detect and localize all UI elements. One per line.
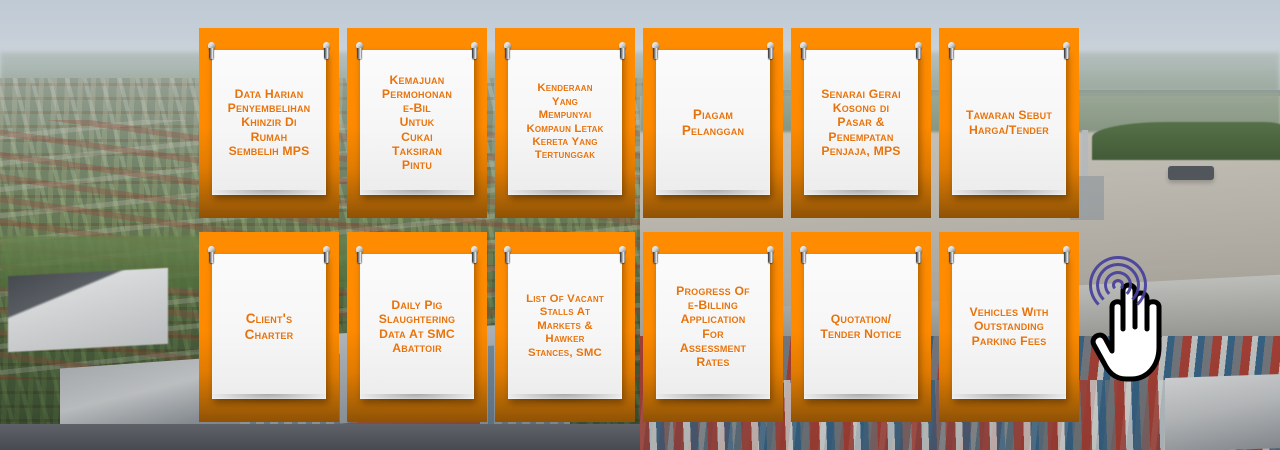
tile-label: Daily Pig Slaughtering Data At SMC Abatt… — [379, 298, 456, 355]
tile-kenderaan-kompaun-letak-kereta[interactable]: Kenderaan Yang Mempunyai Kompaun Letak K… — [495, 28, 635, 218]
tile-progress-of-e-billing-application[interactable]: Progress Of e-Billing Application For As… — [643, 232, 783, 422]
tile-label: Tawaran Sebut Harga/Tender — [966, 108, 1052, 136]
pin-icon-left — [356, 42, 363, 59]
tile-card[interactable]: Kenderaan Yang Mempunyai Kompaun Letak K… — [508, 50, 622, 195]
pin-icon-right — [323, 246, 330, 263]
tile-card[interactable]: Piagam Pelanggan — [656, 50, 770, 195]
pin-icon-left — [800, 246, 807, 263]
tile-label: Client's Charter — [245, 311, 294, 342]
tile-label: Kemajuan Permohonan e-Bil Untuk Cukai Ta… — [382, 73, 452, 172]
pin-icon-right — [1063, 42, 1070, 59]
tile-label: Kenderaan Yang Mempunyai Kompaun Letak K… — [526, 82, 603, 162]
pin-icon-right — [471, 246, 478, 263]
tile-tawaran-sebut-harga-tender[interactable]: Tawaran Sebut Harga/Tender — [939, 28, 1079, 218]
tile-label: Senarai Gerai Kosong di Pasar & Penempat… — [821, 87, 901, 158]
service-tile-board: Data Harian Penyembelihan Khinzir Di Rum… — [199, 28, 1081, 422]
pin-icon-left — [948, 246, 955, 263]
tile-data-harian-penyembelihan[interactable]: Data Harian Penyembelihan Khinzir Di Rum… — [199, 28, 339, 218]
pin-icon-left — [652, 42, 659, 59]
tile-card[interactable]: Kemajuan Permohonan e-Bil Untuk Cukai Ta… — [360, 50, 474, 195]
tile-label: Progress Of e-Billing Application For As… — [676, 284, 750, 369]
tile-quotation-tender-notice[interactable]: Quotation/ Tender Notice — [791, 232, 931, 422]
pin-icon-right — [767, 42, 774, 59]
pin-icon-right — [915, 42, 922, 59]
tile-card[interactable]: Data Harian Penyembelihan Khinzir Di Rum… — [212, 50, 326, 195]
tile-card[interactable]: Daily Pig Slaughtering Data At SMC Abatt… — [360, 254, 474, 399]
tile-piagam-pelanggan[interactable]: Piagam Pelanggan — [643, 28, 783, 218]
tile-card[interactable]: Vehicles With Outstanding Parking Fees — [952, 254, 1066, 399]
tile-label: List Of Vacant Stalls At Markets & Hawke… — [526, 293, 604, 360]
pin-icon-left — [504, 246, 511, 263]
tile-list-of-vacant-stalls[interactable]: List Of Vacant Stalls At Markets & Hawke… — [495, 232, 635, 422]
tile-label: Quotation/ Tender Notice — [820, 312, 901, 340]
tile-label: Piagam Pelanggan — [682, 107, 744, 138]
pin-icon-right — [1063, 246, 1070, 263]
pin-icon-right — [619, 246, 626, 263]
tile-kemajuan-permohonan-e-bil[interactable]: Kemajuan Permohonan e-Bil Untuk Cukai Ta… — [347, 28, 487, 218]
pin-icon-left — [504, 42, 511, 59]
tile-senarai-gerai-kosong[interactable]: Senarai Gerai Kosong di Pasar & Penempat… — [791, 28, 931, 218]
tile-vehicles-with-outstanding-parking-fees[interactable]: Vehicles With Outstanding Parking Fees — [939, 232, 1079, 422]
pin-icon-left — [652, 246, 659, 263]
tile-card[interactable]: Client's Charter — [212, 254, 326, 399]
tile-card[interactable]: List Of Vacant Stalls At Markets & Hawke… — [508, 254, 622, 399]
tile-card[interactable]: Senarai Gerai Kosong di Pasar & Penempat… — [804, 50, 918, 195]
pin-icon-left — [948, 42, 955, 59]
pin-icon-left — [208, 246, 215, 263]
pin-icon-right — [323, 42, 330, 59]
tile-card[interactable]: Tawaran Sebut Harga/Tender — [952, 50, 1066, 195]
tile-daily-pig-slaughtering-data[interactable]: Daily Pig Slaughtering Data At SMC Abatt… — [347, 232, 487, 422]
tile-label: Data Harian Penyembelihan Khinzir Di Rum… — [228, 87, 311, 158]
pin-icon-right — [619, 42, 626, 59]
pin-icon-left — [356, 246, 363, 263]
tile-card[interactable]: Quotation/ Tender Notice — [804, 254, 918, 399]
pin-icon-right — [471, 42, 478, 59]
pin-icon-right — [915, 246, 922, 263]
pin-icon-left — [800, 42, 807, 59]
pin-icon-right — [767, 246, 774, 263]
tile-label: Vehicles With Outstanding Parking Fees — [969, 305, 1048, 348]
tile-card[interactable]: Progress Of e-Billing Application For As… — [656, 254, 770, 399]
tile-clients-charter[interactable]: Client's Charter — [199, 232, 339, 422]
pin-icon-left — [208, 42, 215, 59]
